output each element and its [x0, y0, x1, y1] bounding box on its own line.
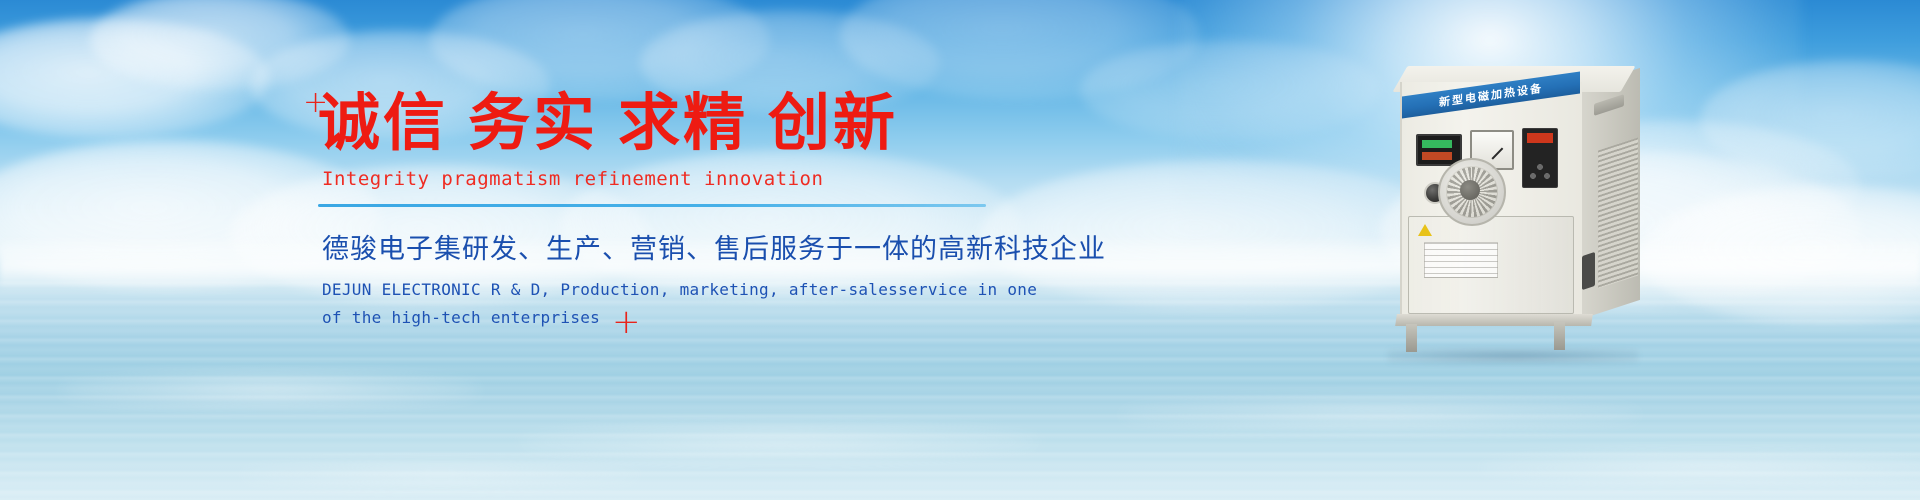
promo-banner: + + 诚信务实求精创新 Integrity pragmatism refine…: [0, 0, 1920, 500]
company-description-english-line1: DEJUN ELECTRONIC R & D, Production, mark…: [322, 276, 1078, 304]
headline-subtitle-english: Integrity pragmatism refinement innovati…: [322, 168, 1078, 190]
headline-word-3: 求精: [618, 86, 748, 159]
fan-hub-icon: [1460, 180, 1480, 200]
headline-word-4: 创新: [768, 86, 898, 159]
headline-word-2: 务实: [468, 86, 598, 159]
sea-shimmer: [520, 420, 1040, 464]
warning-triangle-icon: [1418, 224, 1432, 236]
sea-shimmer: [1480, 450, 1920, 486]
machine-vents: [1598, 138, 1638, 289]
sea-shimmer: [60, 370, 480, 410]
divider-rule: [318, 204, 986, 207]
banner-copy: 诚信务实求精创新 Integrity pragmatism refinement…: [318, 92, 1078, 332]
machine-side-latch: [1582, 252, 1595, 290]
machine-foot: [1554, 322, 1565, 350]
headline-word-1: 诚信: [318, 86, 448, 159]
machine-spec-sticker: [1424, 242, 1498, 278]
company-description-english: DEJUN ELECTRONIC R & D, Production, mark…: [322, 276, 1078, 332]
company-description-english-line2: of the high-tech enterprises: [322, 304, 1078, 332]
page-title: 诚信务实求精创新: [318, 92, 1078, 154]
sea-shimmer: [1120, 395, 1640, 435]
control-keypad-icon: [1522, 128, 1558, 188]
product-shadow: [1388, 348, 1638, 364]
sea-shimmer: [240, 460, 640, 490]
company-description-chinese: 德骏电子集研发、生产、营销、售后服务于一体的高新科技企业: [322, 227, 1078, 266]
machine-foot: [1406, 324, 1417, 352]
product-image: 新型电磁加热设备: [1382, 66, 1682, 356]
